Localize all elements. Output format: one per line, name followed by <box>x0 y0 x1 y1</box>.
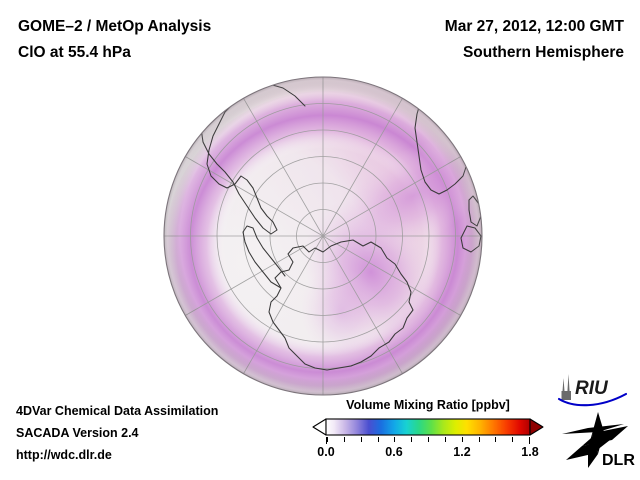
data-field <box>163 76 483 396</box>
species-level-title: ClO at 55.4 hPa <box>18 40 211 66</box>
colorbar-tick <box>462 437 463 442</box>
colorbar-over-arrow <box>530 419 543 435</box>
globe-map <box>163 76 483 396</box>
coast-small-isle <box>223 382 237 384</box>
colorbar-tick <box>512 437 513 442</box>
riu-wordmark: RIU <box>575 378 609 399</box>
colorbar-tick <box>529 437 530 442</box>
hemisphere-label: Southern Hemisphere <box>445 40 624 66</box>
limb-shading <box>164 77 482 395</box>
header-left: GOME–2 / MetOp Analysis ClO at 55.4 hPa <box>18 14 211 66</box>
colorbar-bar <box>312 417 544 437</box>
colorbar-tick-labels: 0.0 0.6 1.2 1.8 <box>326 445 530 461</box>
coast-new-zealand <box>195 374 219 382</box>
footer-method: 4DVar Chemical Data Assimilation <box>16 400 218 422</box>
colorbar-tick <box>479 437 480 442</box>
colorbar-tick <box>394 437 395 442</box>
colorbar-tick-label: 1.2 <box>453 445 470 459</box>
footer-version: SACADA Version 2.4 <box>16 422 218 444</box>
colorbar-tick <box>428 437 429 442</box>
riu-tower-icon <box>562 374 572 400</box>
colorbar-tick-label: 0.0 <box>317 445 334 459</box>
colorbar-tick <box>445 437 446 442</box>
footer-url: http://wdc.dlr.de <box>16 444 218 466</box>
colorbar-tick-label: 1.8 <box>521 445 538 459</box>
orthographic-projection-svg <box>163 76 483 396</box>
header-right: Mar 27, 2012, 12:00 GMT Southern Hemisph… <box>445 14 624 66</box>
dlr-logo: DLR <box>558 410 638 470</box>
colorbar-tick <box>361 437 362 442</box>
instrument-title: GOME–2 / MetOp Analysis <box>18 14 211 40</box>
colorbar-ticks <box>326 437 530 444</box>
colorbar-title: Volume Mixing Ratio [ppbv] <box>312 398 544 412</box>
colorbar-tick <box>327 437 328 442</box>
footer-credits: 4DVar Chemical Data Assimilation SACADA … <box>16 400 218 466</box>
colorbar-under-arrow <box>313 419 326 435</box>
colorbar-gradient-svg <box>312 417 544 437</box>
colorbar-tick <box>495 437 496 442</box>
colorbar-gradient <box>326 419 530 435</box>
colorbar-tick <box>344 437 345 442</box>
riu-logo: RIU <box>556 372 636 410</box>
figure-canvas: GOME–2 / MetOp Analysis ClO at 55.4 hPa … <box>0 0 640 480</box>
colorbar: Volume Mixing Ratio [ppbv] <box>312 398 544 461</box>
colorbar-tick-label: 0.6 <box>385 445 402 459</box>
colorbar-tick <box>378 437 379 442</box>
dlr-wordmark: DLR <box>602 452 635 469</box>
colorbar-tick <box>411 437 412 442</box>
timestamp-label: Mar 27, 2012, 12:00 GMT <box>445 14 624 40</box>
